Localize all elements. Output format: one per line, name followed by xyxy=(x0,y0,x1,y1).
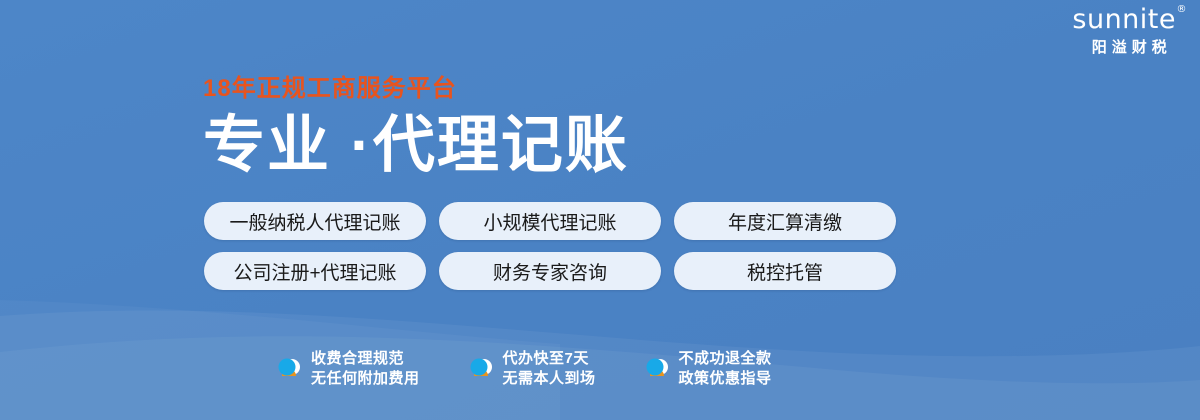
registered-trademark-icon: ® xyxy=(1177,5,1188,15)
headline-kicker: 18年正规工商服务平台 xyxy=(203,76,629,101)
headline-block: 18年正规工商服务平台 专业 ·代理记账 xyxy=(203,76,629,178)
feature-line-secondary: 无需本人到场 xyxy=(503,370,596,387)
feature-line-secondary: 政策优惠指导 xyxy=(679,370,772,387)
feature-line-primary: 不成功退全款 xyxy=(679,350,772,367)
service-pill[interactable]: 年度汇算清缴 xyxy=(674,202,896,240)
feature-line-secondary: 无任何附加费用 xyxy=(311,370,420,387)
brand-logo: sunnite ® 阳溢财税 xyxy=(1072,6,1186,55)
feature-item: 代办快至7天 无需本人到场 xyxy=(468,350,596,388)
feature-text: 代办快至7天 无需本人到场 xyxy=(503,350,596,388)
service-pill-grid: 一般纳税人代理记账 小规模代理记账 年度汇算清缴 公司注册+代理记账 财务专家咨… xyxy=(204,202,896,290)
service-pill[interactable]: 公司注册+代理记账 xyxy=(204,252,426,290)
feature-line-primary: 收费合理规范 xyxy=(311,350,420,367)
service-pill[interactable]: 小规模代理记账 xyxy=(439,202,661,240)
feature-text: 收费合理规范 无任何附加费用 xyxy=(311,350,420,388)
service-pill[interactable]: 税控托管 xyxy=(674,252,896,290)
feature-highlight-row: 收费合理规范 无任何附加费用 代办快至7天 无需本人到场 不成功退全款 xyxy=(276,350,772,388)
overlapping-circles-icon xyxy=(644,354,670,384)
feature-item: 不成功退全款 政策优惠指导 xyxy=(644,350,772,388)
logo-wordmark-text: sunnite xyxy=(1072,4,1176,35)
logo-wordmark: sunnite ® xyxy=(1072,6,1186,33)
overlapping-circles-icon xyxy=(468,354,494,384)
service-pill[interactable]: 财务专家咨询 xyxy=(439,252,661,290)
overlapping-circles-icon xyxy=(276,354,302,384)
feature-line-primary: 代办快至7天 xyxy=(503,350,596,367)
page-title: 专业 ·代理记账 xyxy=(203,113,629,178)
logo-chinese-name: 阳溢财税 xyxy=(1072,40,1186,55)
service-pill[interactable]: 一般纳税人代理记账 xyxy=(204,202,426,240)
feature-text: 不成功退全款 政策优惠指导 xyxy=(679,350,772,388)
feature-item: 收费合理规范 无任何附加费用 xyxy=(276,350,420,388)
promo-banner: sunnite ® 阳溢财税 18年正规工商服务平台 专业 ·代理记账 一般纳税… xyxy=(0,0,1200,420)
